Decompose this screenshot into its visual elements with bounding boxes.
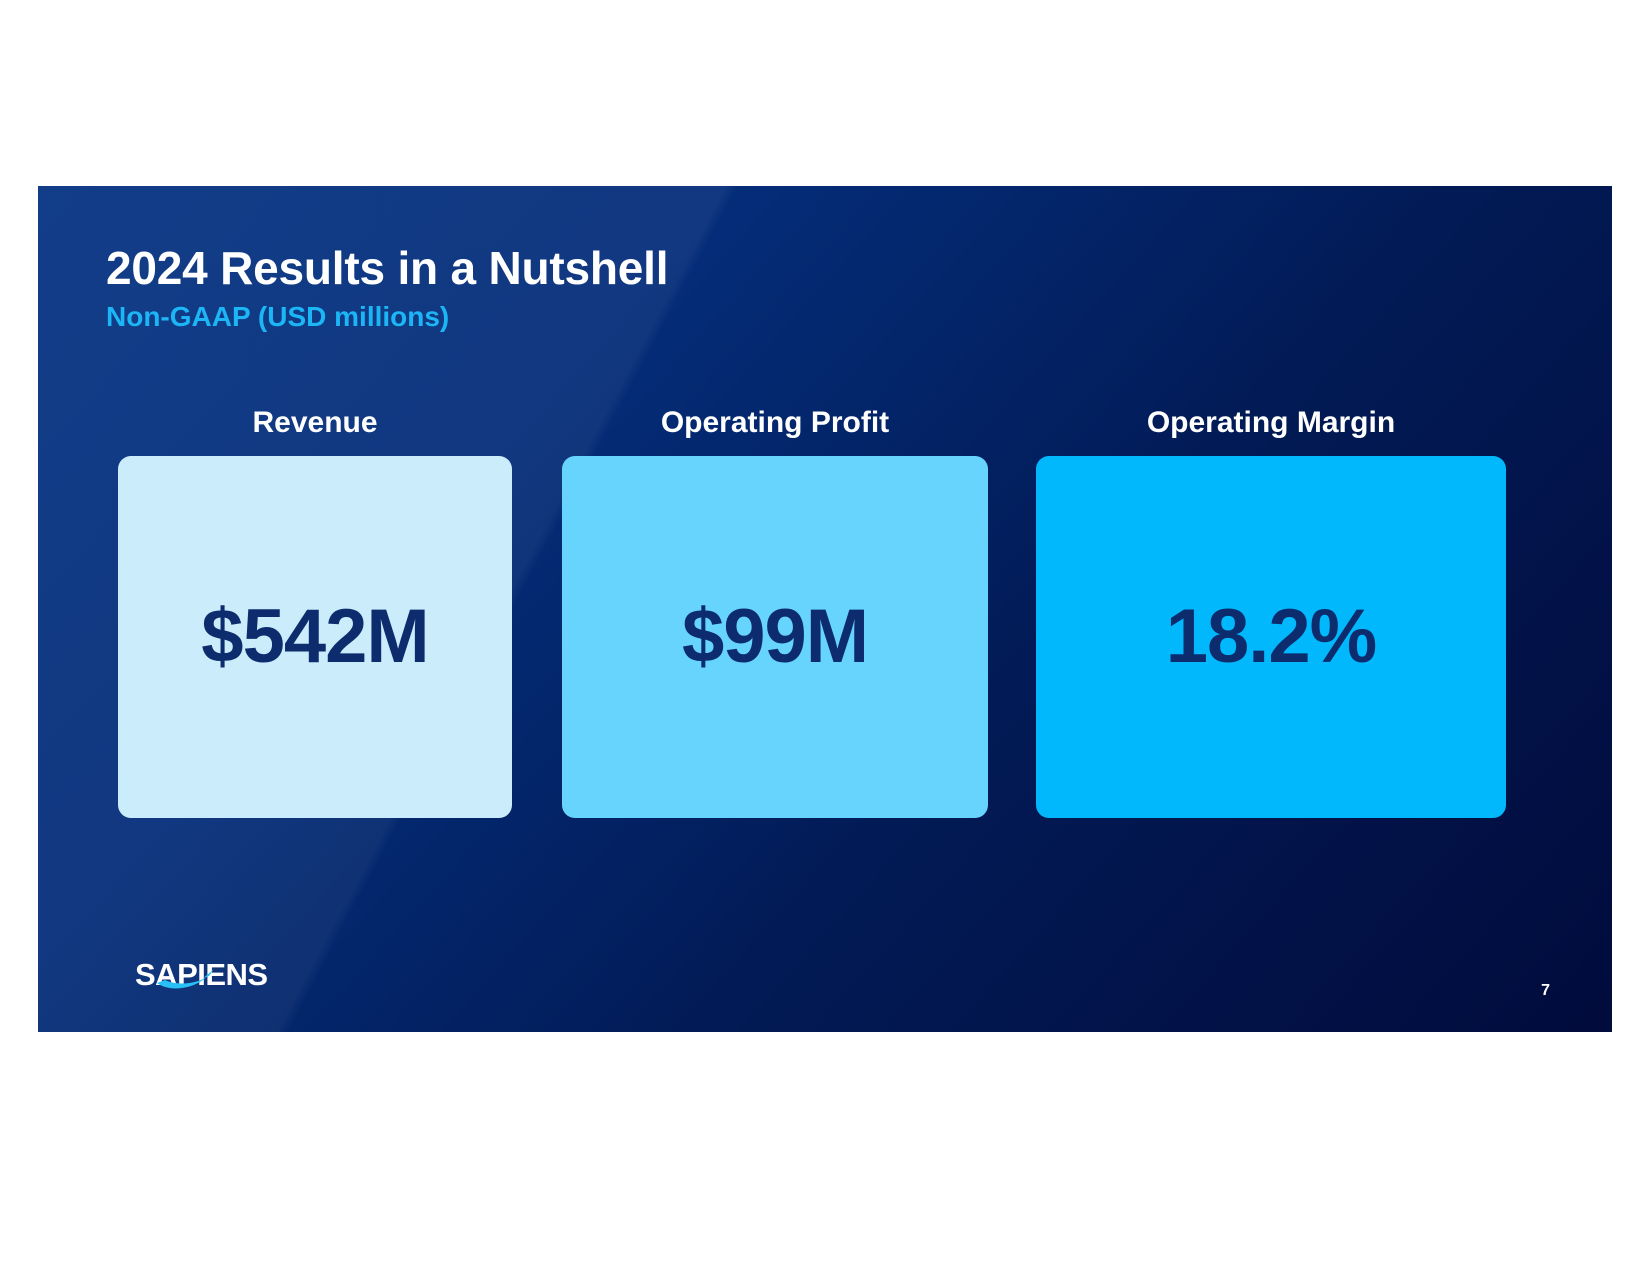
kpi-column-operating-margin: Operating Margin 18.2%	[1036, 408, 1506, 818]
kpi-value-revenue: $542M	[201, 599, 428, 675]
sapiens-logo: SAPIENS	[135, 956, 307, 994]
kpi-column-operating-profit: Operating Profit $99M	[562, 408, 988, 818]
kpi-header-revenue: Revenue	[252, 408, 377, 438]
kpi-header-operating-profit: Operating Profit	[661, 408, 889, 438]
svg-text:SAPIENS: SAPIENS	[135, 957, 268, 992]
page-title: 2024 Results in a Nutshell	[106, 244, 1306, 292]
kpi-value-operating-margin: 18.2%	[1166, 599, 1377, 675]
slide-heading: 2024 Results in a Nutshell Non-GAAP (USD…	[106, 244, 1306, 333]
kpi-card-operating-margin: 18.2%	[1036, 456, 1506, 818]
kpi-card-operating-profit: $99M	[562, 456, 988, 818]
page-subtitle: Non-GAAP (USD millions)	[106, 302, 1306, 333]
kpi-header-operating-margin: Operating Margin	[1147, 408, 1395, 438]
slide-canvas: 2024 Results in a Nutshell Non-GAAP (USD…	[38, 186, 1612, 1032]
kpi-column-revenue: Revenue $542M	[118, 408, 512, 818]
kpi-card-revenue: $542M	[118, 456, 512, 818]
kpi-value-operating-profit: $99M	[682, 599, 868, 675]
kpi-row: Revenue $542M Operating Profit $99M Oper…	[118, 408, 1538, 908]
page-number: 7	[1541, 983, 1550, 999]
